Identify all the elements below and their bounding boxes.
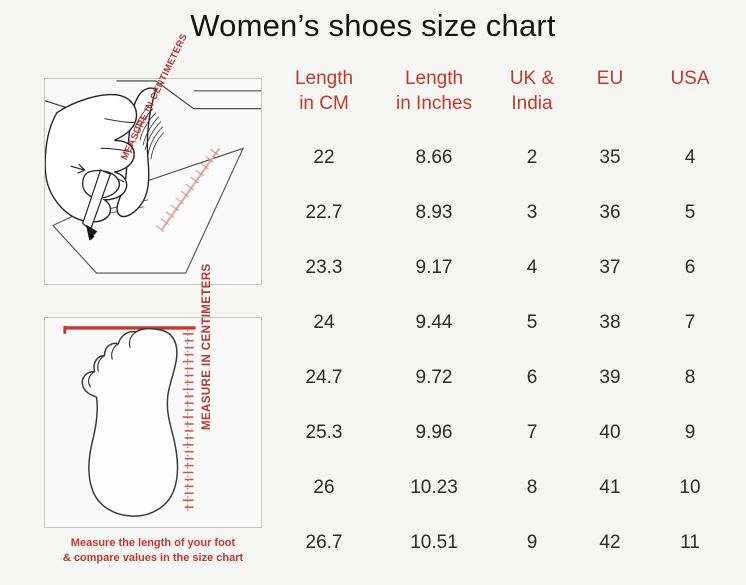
header-line-2: India — [492, 91, 572, 116]
cell-usa: 9 — [648, 405, 732, 460]
table-row: 22.78.933365 — [272, 185, 732, 240]
illustration-foot-outline — [44, 317, 262, 528]
table-row: 228.662354 — [272, 130, 732, 185]
header-line-1: EU — [572, 66, 648, 91]
table-row: 25.39.967409 — [272, 405, 732, 460]
header-line-1: USA — [648, 66, 732, 91]
measure-instruction-caption: Measure the length of your foot & compar… — [44, 536, 262, 566]
cell-eu: 40 — [572, 405, 648, 460]
cell-usa: 6 — [648, 240, 732, 295]
outline-ruler-label: MEASURE IN CENTIMETERS — [201, 263, 213, 430]
column-header-length-inches: Length in Inches — [376, 66, 492, 130]
cell-length-inches: 10.23 — [376, 460, 492, 515]
header-line-1: UK & — [492, 66, 572, 91]
cell-usa: 4 — [648, 130, 732, 185]
foot-outline-drawing — [45, 318, 261, 527]
cell-eu: 37 — [572, 240, 648, 295]
size-chart-table: Length in CM Length in Inches UK & India… — [272, 66, 732, 570]
caption-line-1: Measure the length of your foot — [44, 536, 262, 551]
cell-uk-india: 5 — [492, 295, 572, 350]
cell-length-inches: 9.17 — [376, 240, 492, 295]
cell-uk-india: 2 — [492, 130, 572, 185]
cell-eu: 42 — [572, 515, 648, 570]
table-header: Length in CM Length in Inches UK & India… — [272, 66, 732, 130]
cell-length-cm: 23.3 — [272, 240, 376, 295]
cell-length-inches: 9.44 — [376, 295, 492, 350]
cell-length-cm: 22 — [272, 130, 376, 185]
cell-length-inches: 9.96 — [376, 405, 492, 460]
header-line-1: Length — [272, 66, 376, 91]
cell-eu: 39 — [572, 350, 648, 405]
cell-length-inches: 10.51 — [376, 515, 492, 570]
header-line-1: Length — [376, 66, 492, 91]
cell-uk-india: 8 — [492, 460, 572, 515]
cell-length-cm: 26 — [272, 460, 376, 515]
table-row: 249.445387 — [272, 295, 732, 350]
table-row: 2610.2384110 — [272, 460, 732, 515]
table-header-row: Length in CM Length in Inches UK & India… — [272, 66, 732, 130]
cell-eu: 41 — [572, 460, 648, 515]
page-title: Women’s shoes size chart — [0, 6, 746, 46]
cell-length-cm: 22.7 — [272, 185, 376, 240]
header-line-2: in Inches — [376, 91, 492, 116]
cell-length-cm: 24.7 — [272, 350, 376, 405]
table-row: 24.79.726398 — [272, 350, 732, 405]
cell-usa: 11 — [648, 515, 732, 570]
cell-eu: 35 — [572, 130, 648, 185]
cell-uk-india: 7 — [492, 405, 572, 460]
cell-uk-india: 9 — [492, 515, 572, 570]
cell-eu: 38 — [572, 295, 648, 350]
cell-length-cm: 26.7 — [272, 515, 376, 570]
cell-usa: 10 — [648, 460, 732, 515]
table-row: 23.39.174376 — [272, 240, 732, 295]
cell-eu: 36 — [572, 185, 648, 240]
cell-length-inches: 8.93 — [376, 185, 492, 240]
column-header-usa: USA — [648, 66, 732, 130]
cell-length-inches: 9.72 — [376, 350, 492, 405]
cell-uk-india: 6 — [492, 350, 572, 405]
caption-line-2: & compare values in the size chart — [44, 551, 262, 566]
cell-uk-india: 4 — [492, 240, 572, 295]
size-chart-page: Women’s shoes size chart — [0, 0, 746, 585]
cell-length-cm: 25.3 — [272, 405, 376, 460]
cell-uk-india: 3 — [492, 185, 572, 240]
column-header-uk-india: UK & India — [492, 66, 572, 130]
header-line-2: in CM — [272, 91, 376, 116]
cell-usa: 8 — [648, 350, 732, 405]
cell-usa: 5 — [648, 185, 732, 240]
column-header-length-cm: Length in CM — [272, 66, 376, 130]
column-header-eu: EU — [572, 66, 648, 130]
table-body: 228.66235422.78.93336523.39.174376249.44… — [272, 130, 732, 570]
cell-length-inches: 8.66 — [376, 130, 492, 185]
table-row: 26.710.5194211 — [272, 515, 732, 570]
cell-length-cm: 24 — [272, 295, 376, 350]
cell-usa: 7 — [648, 295, 732, 350]
